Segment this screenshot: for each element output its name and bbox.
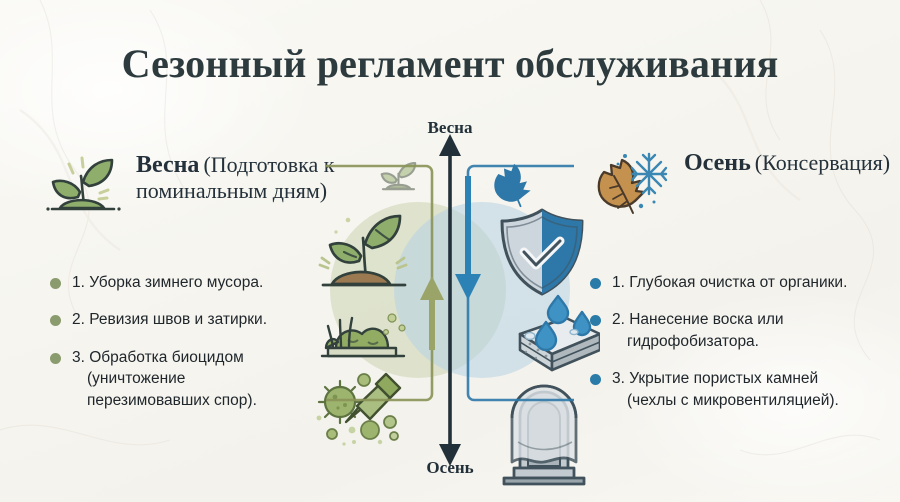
autumn-header-text: Осень (Консервация) (684, 150, 890, 176)
bullet-dot-icon (50, 315, 61, 326)
list-item: 3. Обработка биоцидом (уничтожение перез… (50, 347, 340, 411)
spring-task-list: 1. Уборка зимнего мусора. 2. Ревизия шво… (50, 272, 340, 427)
list-item-text: 1. Глубокая очистка от органики. (612, 272, 847, 293)
autumn-subtitle: (Консервация) (755, 150, 890, 175)
list-item-line: (уничтожение (72, 368, 257, 389)
list-item-line: (чехлы с микровентиляцией). (612, 390, 839, 411)
list-item: 2. Нанесение воска или гидрофобизатора. (590, 309, 890, 352)
spring-title: Весна (136, 152, 199, 178)
list-item-line: 3. Обработка биоцидом (72, 349, 244, 366)
list-item-line: 3. Укрытие пористых камней (612, 370, 818, 387)
blue-leaf-icon (494, 164, 530, 206)
list-item: 3. Укрытие пористых камней (чехлы с микр… (590, 368, 890, 411)
list-item-text: 3. Укрытие пористых камней (чехлы с микр… (612, 368, 839, 411)
list-item-text: 2. Ревизия швов и затирки. (72, 309, 267, 330)
sprout-icon (42, 152, 124, 222)
list-item-line: гидрофобизатора. (612, 331, 784, 352)
list-item-text: 3. Обработка биоцидом (уничтожение перез… (72, 347, 257, 411)
list-item: 1. Уборка зимнего мусора. (50, 272, 340, 293)
spore-dropper-icon (317, 374, 400, 446)
autumn-task-list: 1. Глубокая очистка от органики. 2. Нане… (590, 272, 890, 427)
arrow-up-icon (439, 134, 461, 156)
list-item-line: перезимовавших спор). (72, 390, 257, 411)
autumn-header: Осень (Консервация) (592, 150, 892, 222)
autumn-title: Осень (684, 150, 751, 176)
center-illustration: Весна Осень (300, 100, 600, 500)
list-item-line: 2. Нанесение воска или (612, 311, 784, 328)
list-item-text: 1. Уборка зимнего мусора. (72, 272, 263, 293)
list-item: 2. Ревизия швов и затирки. (50, 309, 340, 330)
list-item-line: 2. Ревизия швов и затирки. (72, 311, 267, 328)
list-item: 1. Глубокая очистка от органики. (590, 272, 890, 293)
list-item-line: 1. Уборка зимнего мусора. (72, 274, 263, 291)
bullet-dot-icon (50, 353, 61, 364)
autumn-leaf-snowflake-icon (592, 150, 672, 222)
list-item-text: 2. Нанесение воска или гидрофобизатора. (612, 309, 784, 352)
bullet-dot-icon (50, 278, 61, 289)
page-title: Сезонный регламент обслуживания (0, 40, 900, 87)
arrow-down-icon (439, 444, 461, 466)
list-item-line: 1. Глубокая очистка от органики. (612, 274, 847, 291)
